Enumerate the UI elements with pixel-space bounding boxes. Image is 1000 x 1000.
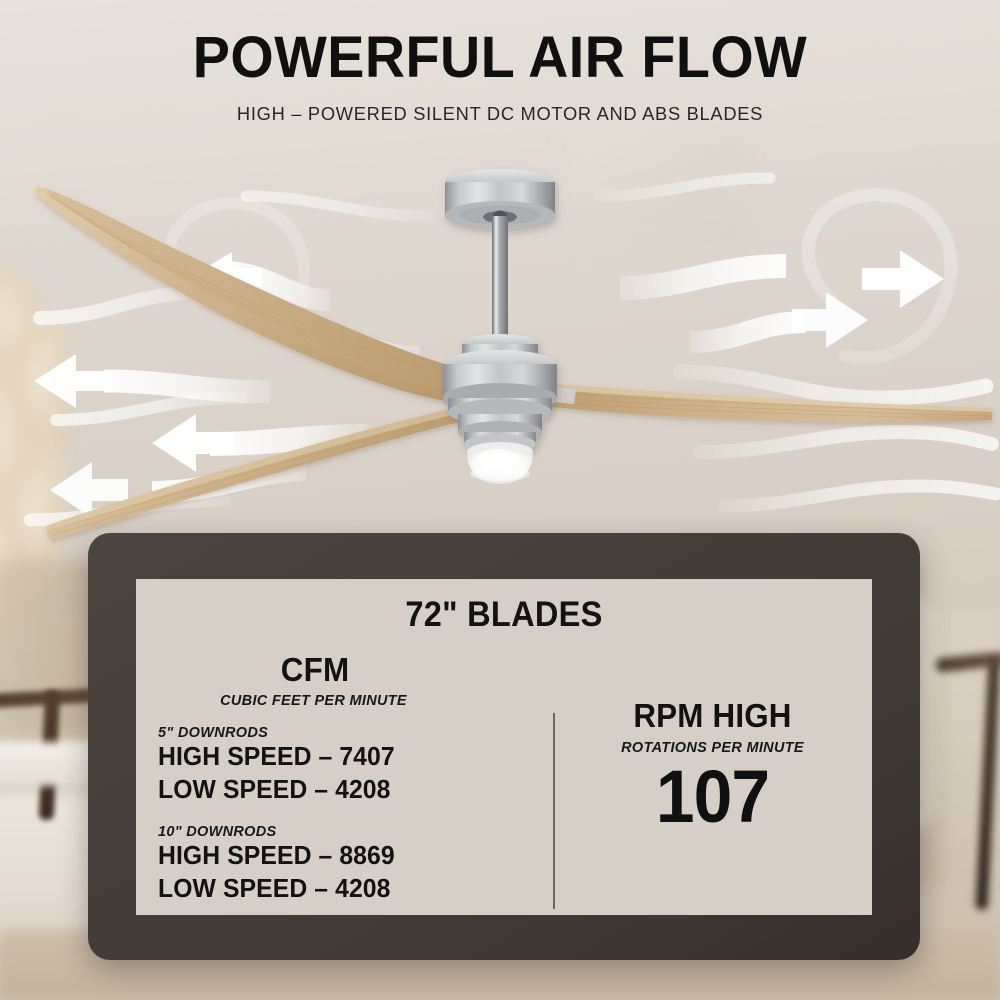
cfm-low-speed-10in: LOW SPEED – 4208 xyxy=(158,873,541,906)
cfm-column: CFM CUBIC FEET PER MINUTE 5" DOWNRODS HI… xyxy=(136,651,553,907)
cfm-low-speed-5in: LOW SPEED – 4208 xyxy=(158,774,541,807)
page-subtitle: HIGH – POWERED SILENT DC MOTOR AND ABS B… xyxy=(5,103,995,125)
downrod-group-10in: 10" DOWNRODS HIGH SPEED – 8869 LOW SPEED… xyxy=(136,824,553,906)
rpm-subheading: ROTATIONS PER MINUTE xyxy=(553,740,872,756)
rpm-heading: RPM HIGH xyxy=(561,697,864,735)
header-block: POWERFUL AIR FLOW HIGH – POWERED SILENT … xyxy=(0,28,1000,125)
downrod-label-10in: 10" DOWNRODS xyxy=(158,824,553,840)
cfm-high-speed-10in: HIGH SPEED – 8869 xyxy=(158,840,541,873)
spec-card-title: 72" BLADES xyxy=(162,595,846,635)
infographic-canvas: POWERFUL AIR FLOW HIGH – POWERED SILENT … xyxy=(0,0,1000,1000)
wall-art xyxy=(570,120,750,250)
page-title: POWERFUL AIR FLOW xyxy=(20,28,980,87)
cfm-high-speed-5in: HIGH SPEED – 7407 xyxy=(158,741,541,774)
cfm-subheading: CUBIC FEET PER MINUTE xyxy=(136,693,553,709)
spec-panel: 72" BLADES CFM CUBIC FEET PER MINUTE 5" … xyxy=(88,533,920,960)
rpm-value: 107 xyxy=(563,760,863,834)
spec-card: 72" BLADES CFM CUBIC FEET PER MINUTE 5" … xyxy=(136,579,872,915)
downrod-group-5in: 5" DOWNRODS HIGH SPEED – 7407 LOW SPEED … xyxy=(136,725,553,807)
downrod-label-5in: 5" DOWNRODS xyxy=(158,725,553,741)
rpm-column: RPM HIGH ROTATIONS PER MINUTE 107 xyxy=(553,697,872,834)
cfm-heading: CFM xyxy=(146,651,542,689)
